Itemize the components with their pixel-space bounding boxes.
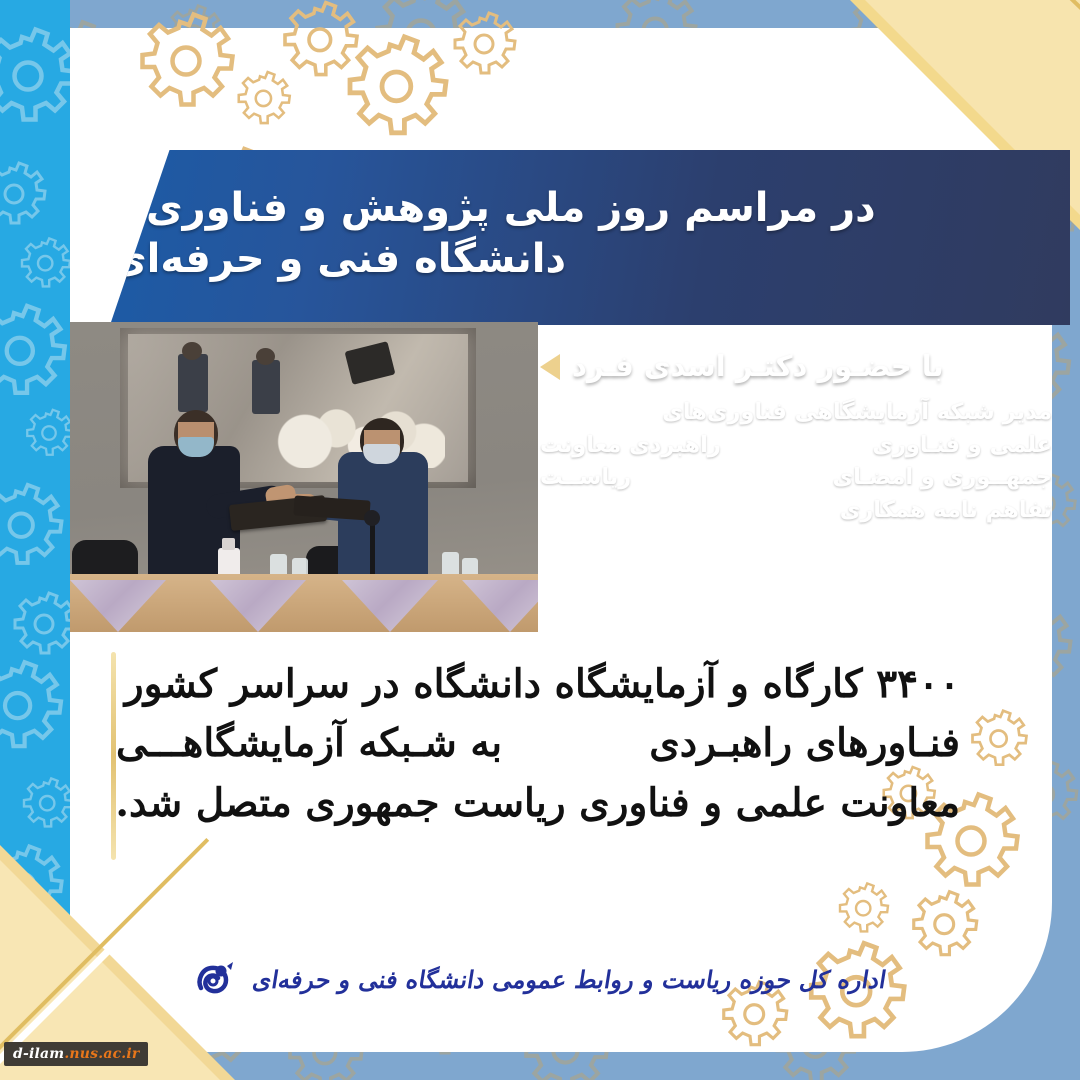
photo-table-runner-4	[462, 580, 538, 632]
photo-person-left-mask	[178, 437, 214, 457]
photo-sanitizer-pump	[222, 538, 235, 550]
photo-table	[70, 574, 538, 632]
statement-line-3: معاونت علمی و فناوری ریاست جمهوری متصل ش…	[116, 774, 960, 833]
footer-text: اداره کل حوزه ریاست و روابط عمومی دانشگا…	[251, 965, 889, 994]
photo-microphone-head	[364, 510, 380, 526]
header-line-2: دانشگاه فنی و حرفه‌ای	[110, 235, 566, 284]
speaker-subtitle-line-3-right: ریاســت	[540, 461, 631, 494]
statement-line-2-left: فنـاورهای راهبـردی	[649, 714, 960, 773]
statement-line-2-right: به شـبکه آزمایشگاهـــی	[116, 714, 502, 773]
watermark-prefix: d-ilam	[13, 1046, 64, 1062]
speaker-subtitle-line-3: ریاســت جمهــوری و امضـای	[540, 461, 1052, 494]
statement-block: ۳۴۰۰ کارگاه و آزمایشگاه دانشگاه در سراسر…	[116, 655, 982, 833]
header-text-block: در مراسم روز ملی پژوهش و فناوری دانشگاه …	[110, 150, 1070, 325]
speaker-title-row: با حضـور دکتـر اسدی فـرد	[540, 348, 1052, 386]
site-watermark: d-ilam.nus.ac.ir	[4, 1042, 148, 1066]
gold-triangle-arrow-icon	[540, 354, 560, 380]
speaker-subtitle-line-2-left: علمی و فنـاوری	[872, 429, 1052, 462]
photo-person-right-mask	[363, 444, 400, 464]
speaker-title: با حضـور دکتـر اسدی فـرد	[572, 348, 944, 386]
poster-root: در مراسم روز ملی پژوهش و فناوری دانشگاه …	[0, 0, 1080, 1080]
statement-line-2: به شـبکه آزمایشگاهـــی فنـاورهای راهبـرد…	[116, 714, 960, 773]
footer: اداره کل حوزه ریاست و روابط عمومی دانشگا…	[0, 944, 1080, 1014]
speaker-info-block: با حضـور دکتـر اسدی فـرد مدیر شبکه آزمای…	[540, 348, 1052, 527]
speaker-subtitle-line-2: راهبردی معاونت علمی و فنـاوری	[540, 429, 1052, 462]
university-emblem-icon	[193, 958, 239, 1000]
header-line-1-row: در مراسم روز ملی پژوهش و فناوری	[110, 184, 876, 233]
photo-table-runner-2	[210, 580, 306, 632]
projected-head-right	[256, 348, 275, 365]
speaker-subtitle: مدیر شبکه آزمایشگاهی فناوری‌های راهبردی …	[540, 396, 1052, 527]
speaker-subtitle-line-2-right: راهبردی معاونت	[540, 429, 721, 462]
ceremony-photo	[70, 322, 538, 632]
projected-head-left	[182, 342, 202, 360]
watermark-suffix: .nus.ac.ir	[64, 1046, 139, 1062]
photo-table-runner-3	[342, 580, 438, 632]
projected-figure-left	[178, 354, 208, 412]
speaker-subtitle-line-3-left: جمهــوری و امضـای	[833, 461, 1052, 494]
photo-table-runner-1	[70, 580, 166, 632]
header-banner: در مراسم روز ملی پژوهش و فناوری دانشگاه …	[110, 150, 1070, 325]
speaker-subtitle-line-4: تفاهم نامه همکاری	[540, 494, 1052, 527]
header-line-1: در مراسم روز ملی پژوهش و فناوری	[146, 184, 876, 233]
statement-line-1: ۳۴۰۰ کارگاه و آزمایشگاه دانشگاه در سراسر…	[116, 655, 960, 714]
speaker-subtitle-line-1: مدیر شبکه آزمایشگاهی فناوری‌های	[540, 396, 1052, 429]
